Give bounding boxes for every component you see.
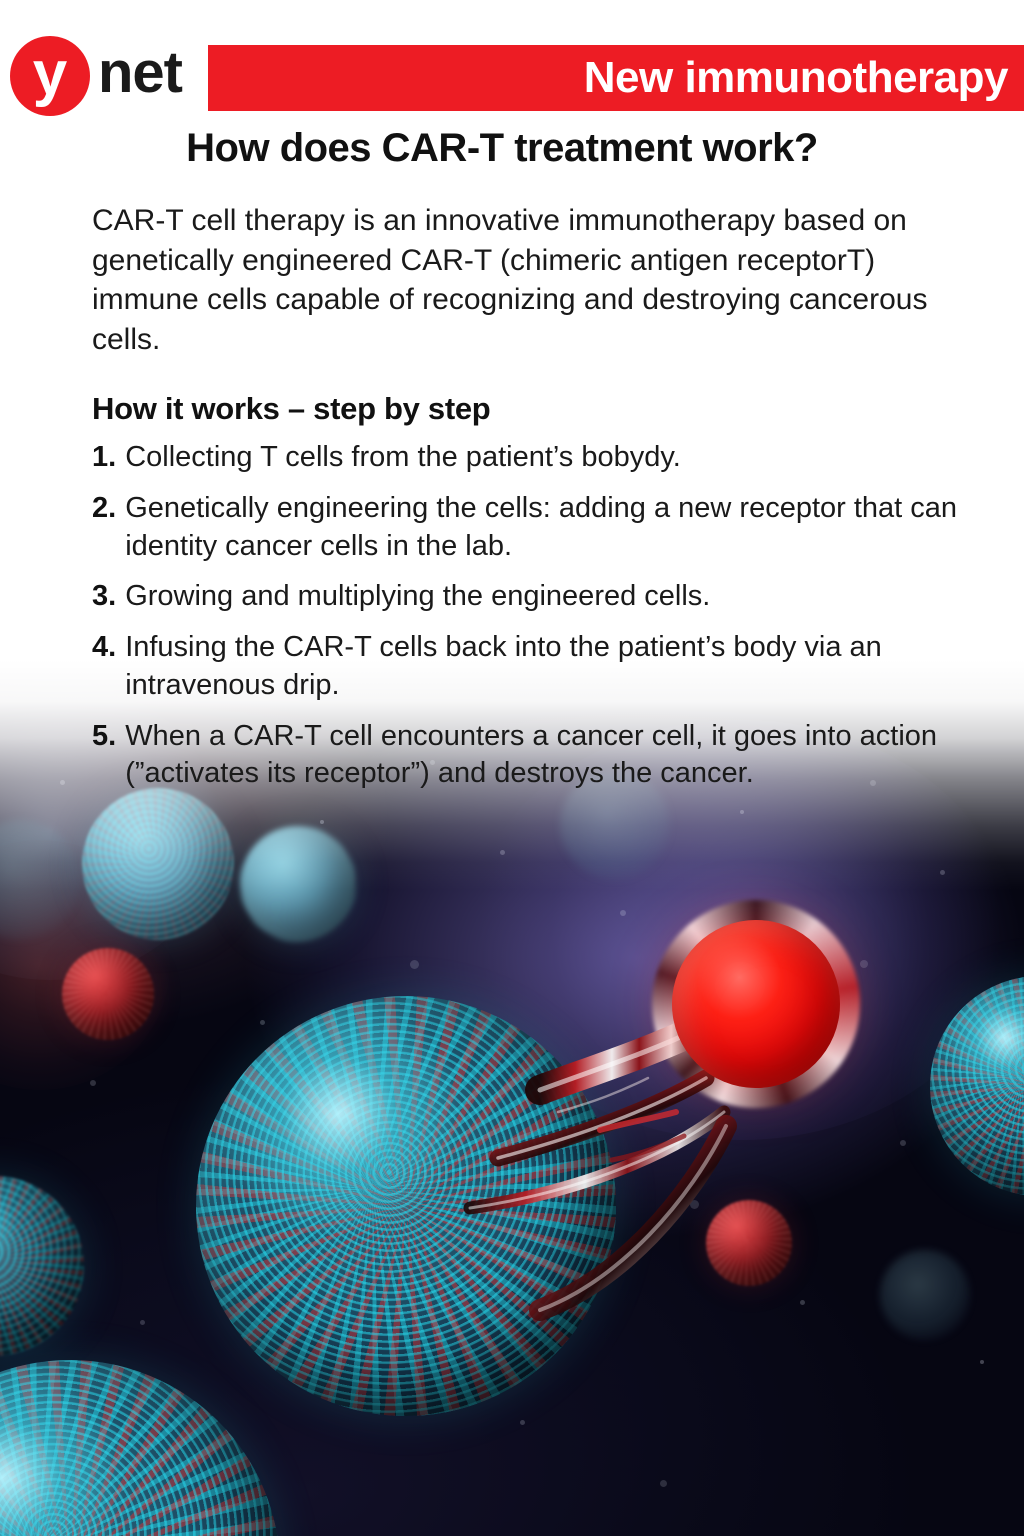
- step-number: 1.: [92, 439, 116, 477]
- list-item: 3. Growing and multiplying the engineere…: [92, 578, 962, 616]
- infographic-page: y net New immunotherapy How does CAR-T t…: [0, 0, 1024, 1536]
- background-cell: [0, 820, 80, 940]
- header-banner: New immunotherapy: [208, 45, 1024, 111]
- logo-letter-y: y: [33, 43, 67, 105]
- logo-wordmark: net: [98, 44, 182, 102]
- steps-list: 1. Collecting T cells from the patient’s…: [92, 439, 962, 793]
- immune-cell: [240, 826, 356, 942]
- tumor-cell: [706, 1200, 792, 1286]
- page-title: How does CAR-T treatment work?: [0, 126, 1024, 171]
- steps-heading: How it works – step by step: [92, 391, 1024, 427]
- step-number: 5.: [92, 718, 116, 793]
- step-text: Collecting T cells from the patient’s bo…: [125, 439, 962, 477]
- cancer-cell: [196, 996, 616, 1416]
- tumor-cell: [62, 948, 154, 1040]
- article-content: How does CAR-T treatment work? CAR-T cel…: [0, 120, 1024, 806]
- cancer-cell: [930, 976, 1024, 1196]
- car-t-cell: [672, 920, 840, 1088]
- background-cell: [880, 1250, 970, 1340]
- step-text: Growing and multiplying the engineered c…: [125, 578, 962, 616]
- step-text: Infusing the CAR-T cells back into the p…: [125, 629, 962, 704]
- ynet-logo[interactable]: y net: [10, 36, 182, 116]
- cancer-cell: [0, 1360, 280, 1536]
- page-header: y net New immunotherapy: [0, 0, 1024, 120]
- list-item: 2. Genetically engineering the cells: ad…: [92, 490, 962, 565]
- step-text: When a CAR-T cell encounters a cancer ce…: [125, 718, 962, 793]
- step-number: 2.: [92, 490, 116, 565]
- step-text: Genetically engineering the cells: addin…: [125, 490, 962, 565]
- list-item: 4. Infusing the CAR-T cells back into th…: [92, 629, 962, 704]
- list-item: 5. When a CAR-T cell encounters a cancer…: [92, 718, 962, 793]
- header-banner-label: New immunotherapy: [584, 53, 1024, 103]
- step-number: 4.: [92, 629, 116, 704]
- logo-circle-icon: y: [10, 36, 90, 116]
- step-number: 3.: [92, 578, 116, 616]
- intro-paragraph: CAR-T cell therapy is an innovative immu…: [92, 201, 952, 359]
- immune-cell: [82, 788, 234, 940]
- list-item: 1. Collecting T cells from the patient’s…: [92, 439, 962, 477]
- cancer-cell: [0, 1176, 84, 1356]
